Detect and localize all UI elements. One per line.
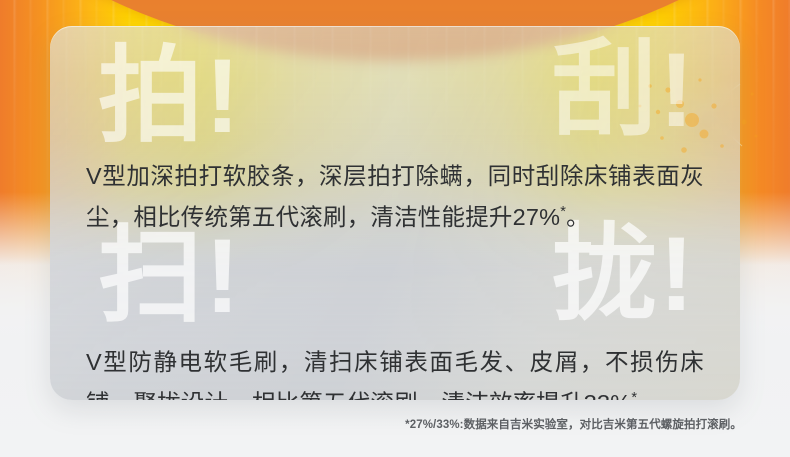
feature-text-2-end: 。 [637, 390, 661, 401]
watermark-top-right: 刮! [552, 38, 696, 143]
feature-text-1: V型加深拍打软胶条，深层拍打除螨，同时刮除床铺表面灰尘，相比传统第五代滚刷，清洁… [86, 163, 704, 230]
feature-paragraph-sweep-gather: V型防静电软毛刷，清扫床铺表面毛发、皮屑，不损伤床铺。聚拢设计，相比第五代滚刷，… [86, 342, 704, 401]
feature-paragraph-beat-scrape: V型加深拍打软胶条，深层拍打除螨，同时刮除床铺表面灰尘，相比传统第五代滚刷，清洁… [86, 156, 704, 238]
feature-text-2: V型防静电软毛刷，清扫床铺表面毛发、皮屑，不损伤床铺。聚拢设计，相比第五代滚刷，… [86, 349, 704, 401]
card-sheen-overlay [50, 26, 740, 176]
feature-text-1-end: 。 [566, 204, 590, 230]
footnote-disclaimer: *27%/33%:数据来自吉米实验室，对比吉米第五代螺旋拍打滚刷。 [405, 417, 742, 433]
watermark-bottom-right: 拢! [552, 222, 696, 327]
watermark-top-left: 拍! [98, 44, 242, 149]
watermark-bottom-left: 扫! [98, 224, 242, 329]
promo-banner: 拍! 刮! 扫! 拢! V型加深拍打软胶条，深层拍打除螨，同时刮除床铺表面灰尘，… [0, 0, 790, 457]
content-card: 拍! 刮! 扫! 拢! V型加深拍打软胶条，深层拍打除螨，同时刮除床铺表面灰尘，… [50, 26, 740, 400]
